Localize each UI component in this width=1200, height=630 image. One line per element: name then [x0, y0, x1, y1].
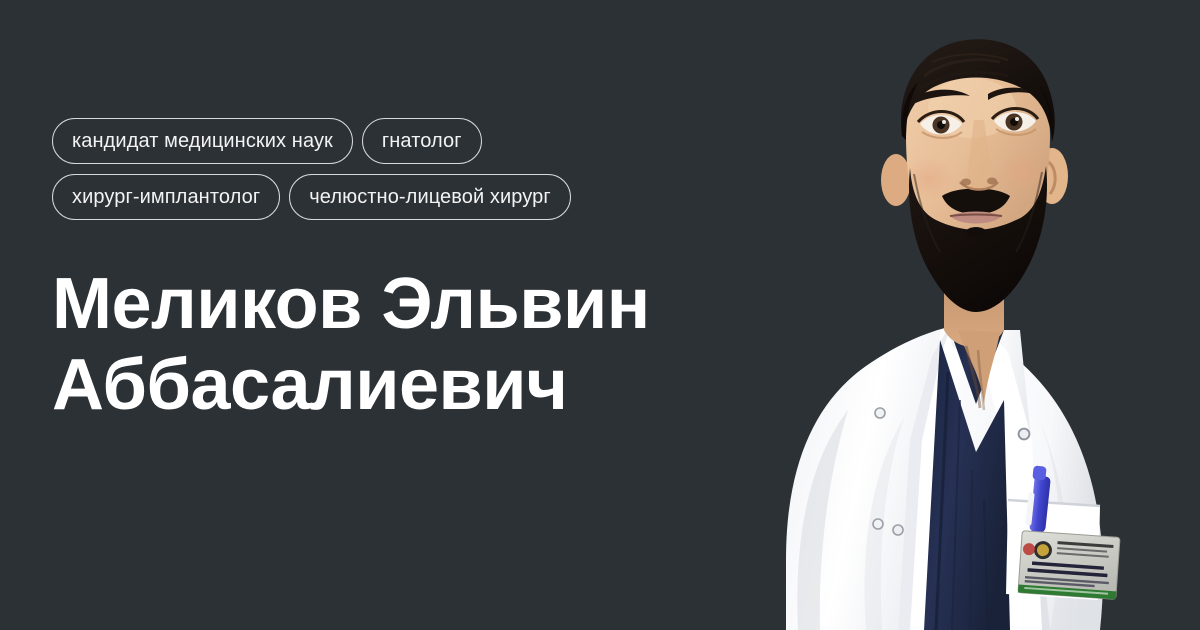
neck: [944, 248, 1004, 410]
credentials-row-1: кандидат медицинских наук гнатолог: [52, 118, 482, 164]
credential-tag-hirurg-implantolog[interactable]: хирург-имплантолог: [52, 174, 280, 220]
doctor-name-line-2: Аббасалиевич: [52, 345, 672, 426]
credentials-row-2: хирург-имплантолог челюстно-лицевой хиру…: [52, 174, 571, 220]
lab-coat-group: [786, 318, 1103, 630]
doctor-info: кандидат медицинских наук гнатолог хирур…: [52, 118, 692, 425]
doctor-name-line-1: Меликов Эльвин: [52, 264, 672, 345]
coat-snap-button: [874, 407, 886, 419]
coat-snap-button: [892, 524, 904, 536]
eyes: [918, 109, 1038, 139]
coat-snap-button: [1018, 428, 1031, 441]
doctor-promo-card: кандидат медицинских наук гнатолог хирур…: [0, 0, 1200, 630]
credential-tag-gnatolog[interactable]: гнатолог: [362, 118, 482, 164]
credential-tag-kandidat-nauk[interactable]: кандидат медицинских наук: [52, 118, 353, 164]
credential-tag-chelyustno-litsevoy-hirurg[interactable]: челюстно-лицевой хирург: [289, 174, 571, 220]
coat-details: [872, 407, 1120, 600]
id-badge: [1018, 531, 1120, 600]
pen: [1025, 465, 1051, 532]
coat-snap-button: [872, 518, 884, 530]
doctor-name: Меликов Эльвин Аббасалиевич: [52, 264, 672, 425]
scrub-top: [924, 326, 1010, 630]
head: [881, 39, 1068, 312]
credentials-tags: кандидат медицинских наук гнатолог хирур…: [52, 118, 692, 220]
